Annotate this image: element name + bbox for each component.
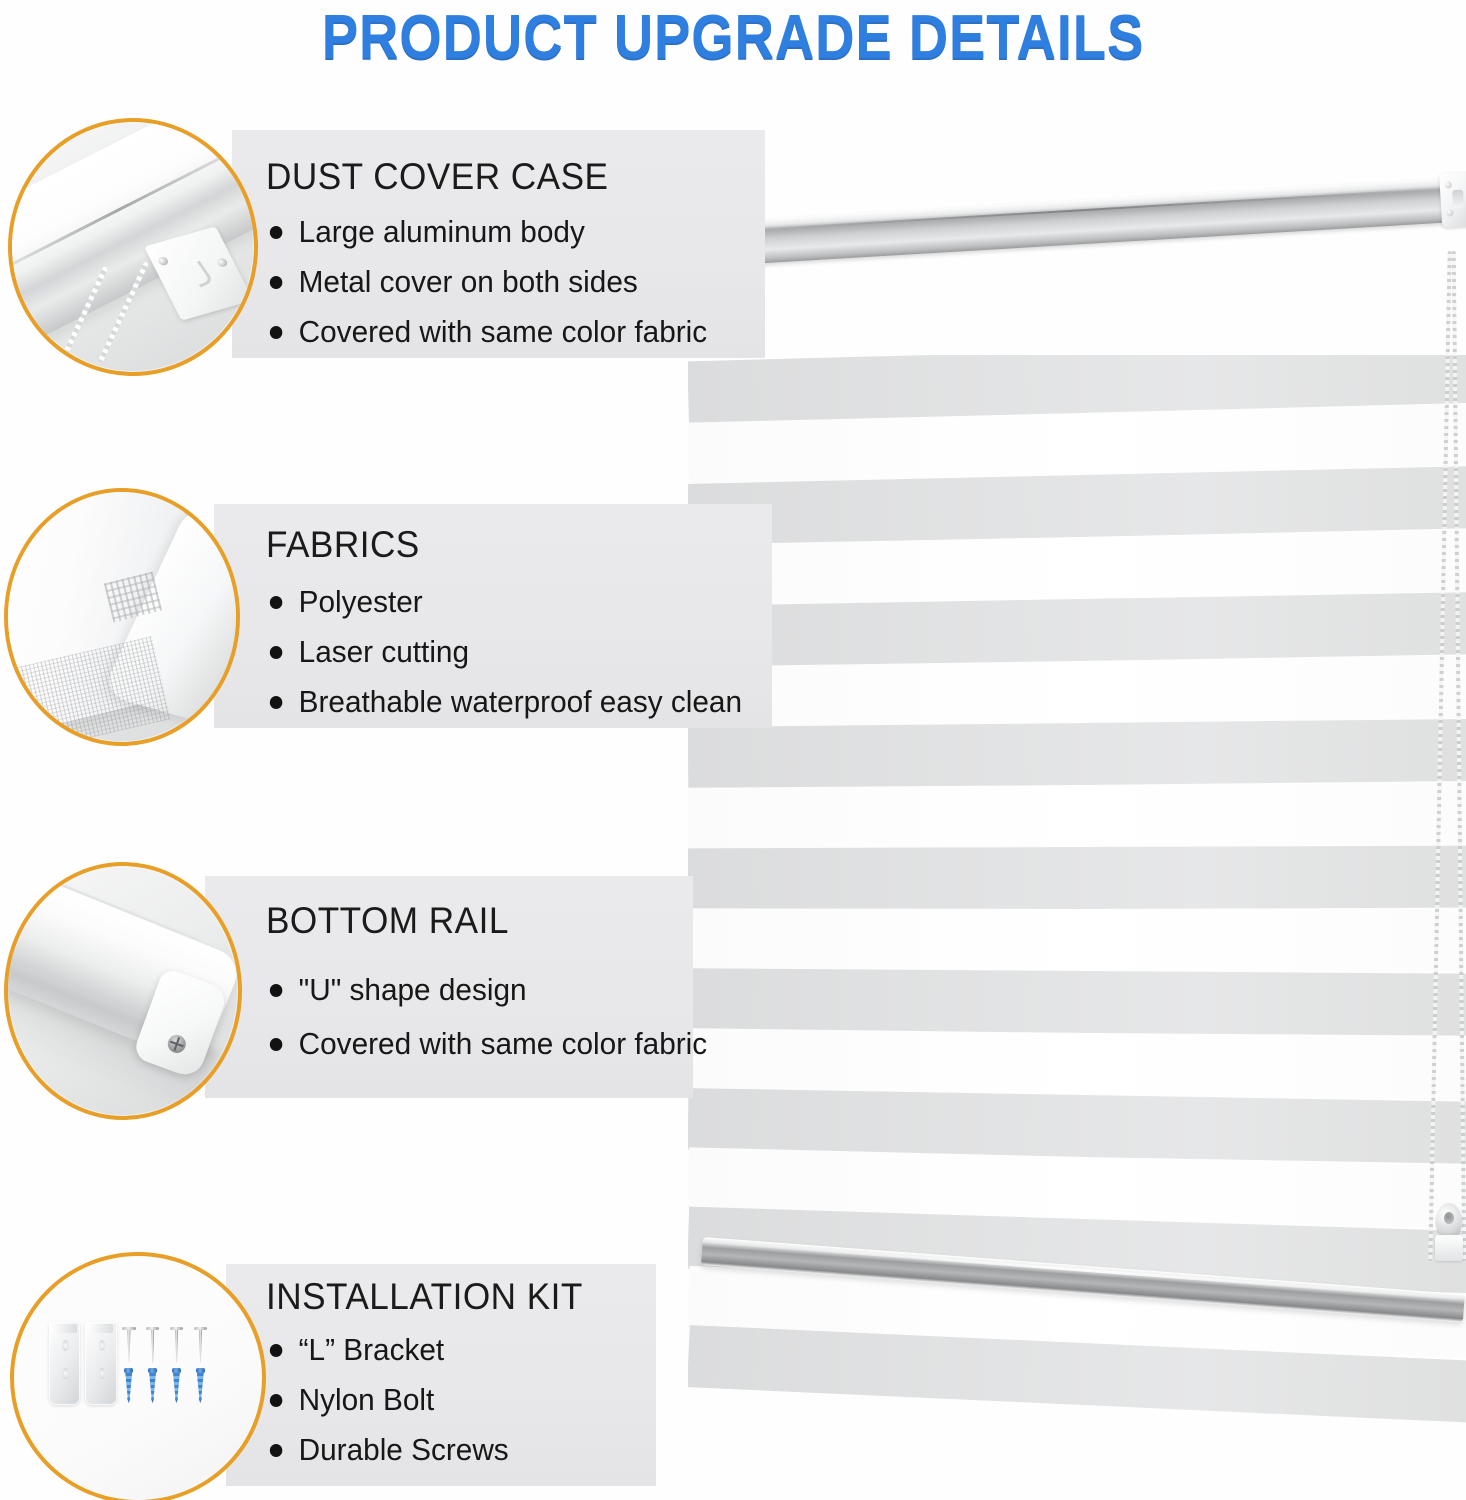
list-item: Polyester	[266, 584, 742, 620]
chain-strand	[1452, 251, 1466, 1261]
list-item: Covered with same color fabric	[266, 314, 707, 350]
nylon-bolt-anchor	[196, 1368, 206, 1403]
fabric-sheer-band	[688, 655, 1466, 728]
fabric-sheer-band	[688, 908, 1466, 971]
feature-text: FABRICS Polyester Laser cutting Breathab…	[266, 524, 762, 720]
nylon-bolt-anchor	[172, 1368, 182, 1403]
list-item: “L” Bracket	[266, 1332, 586, 1368]
feature-title: INSTALLATION KIT	[266, 1276, 583, 1318]
feature-bullet-list: “L” Bracket Nylon Bolt Durable Screws	[266, 1332, 600, 1468]
screw-icon	[126, 1327, 132, 1363]
bracket-lip	[51, 1324, 77, 1333]
l-bracket	[49, 1322, 80, 1405]
kit-contents	[49, 1322, 233, 1405]
fabric-swatch-photo	[4, 488, 240, 746]
fabric-sheer-band	[688, 1028, 1466, 1100]
list-item: Nylon Bolt	[266, 1382, 586, 1418]
nylon-bolt-anchor	[148, 1368, 158, 1403]
bottom-rail-photo	[4, 862, 242, 1120]
list-item: Breathable waterproof easy clean	[266, 684, 742, 720]
feature-title: FABRICS	[266, 524, 737, 566]
chain-slot	[1452, 190, 1464, 209]
screw-icon	[156, 256, 169, 267]
list-item: Covered with same color fabric	[266, 1026, 707, 1062]
bracket-lip	[87, 1324, 113, 1333]
dust-cover-cassette-photo	[8, 118, 258, 376]
rail-seam	[712, 188, 1440, 233]
bracket-hole	[62, 1368, 69, 1379]
fabric-sheer-band	[688, 782, 1466, 850]
feature-bullet-list: Large aluminum body Metal cover on both …	[266, 214, 726, 350]
list-item: Laser cutting	[266, 634, 742, 670]
screw-icon	[1446, 209, 1453, 216]
feature-block-bottom-rail: BOTTOM RAIL "U" shape design Covered wit…	[0, 860, 790, 1112]
hook-icon	[186, 260, 214, 287]
fabric-band	[688, 846, 1466, 911]
bracket-hole	[99, 1340, 106, 1351]
page-title: PRODUCT UPGRADE DETAILS	[88, 0, 1378, 74]
screw-icon	[197, 1327, 203, 1363]
feature-text: DUST COVER CASE Large aluminum body Meta…	[266, 156, 726, 350]
feature-text: BOTTOM RAIL "U" shape design Covered wit…	[266, 900, 726, 1062]
chain-connector	[1435, 1235, 1463, 1261]
feature-block-dust-cover-case: DUST COVER CASE Large aluminum body Meta…	[0, 118, 790, 368]
fabric-band	[688, 968, 1466, 1036]
list-item: Durable Screws	[266, 1432, 586, 1468]
product-image-zebra-blind	[688, 205, 1466, 1335]
installation-kit-photo	[10, 1252, 266, 1500]
feature-block-fabrics: FABRICS Polyester Laser cutting Breathab…	[0, 490, 790, 740]
list-item: Large aluminum body	[266, 214, 707, 250]
feature-title: BOTTOM RAIL	[266, 900, 703, 942]
screw-icon	[216, 257, 229, 268]
infographic-canvas: PRODUCT UPGRADE DETAILS	[0, 0, 1466, 1500]
list-item: "U" shape design	[266, 972, 707, 1008]
feature-bullet-list: "U" shape design Covered with same color…	[266, 972, 726, 1062]
feature-block-installation-kit: INSTALLATION KIT “L” Bracket Nylon Bolt …	[0, 1256, 700, 1496]
rail-end-cap	[1439, 172, 1466, 228]
bracket-hole	[62, 1340, 69, 1351]
feature-bullet-list: Polyester Laser cutting Breathable water…	[266, 584, 762, 720]
bracket-hole	[99, 1368, 106, 1379]
feature-title: DUST COVER CASE	[266, 156, 703, 198]
chain-tensioner[interactable]	[1436, 1203, 1462, 1237]
l-bracket	[85, 1322, 116, 1405]
screw-icon	[165, 1032, 188, 1055]
screw-icon	[150, 1327, 156, 1363]
screw-icon	[174, 1327, 180, 1363]
fabric-band	[688, 719, 1466, 789]
bead-chain[interactable]	[1434, 251, 1466, 1261]
nylon-bolt-anchor	[124, 1368, 134, 1403]
list-item: Metal cover on both sides	[266, 264, 707, 300]
feature-text: INSTALLATION KIT “L” Bracket Nylon Bolt …	[266, 1276, 600, 1468]
top-rail-cassette	[697, 178, 1458, 267]
screw-icon	[1445, 181, 1452, 188]
